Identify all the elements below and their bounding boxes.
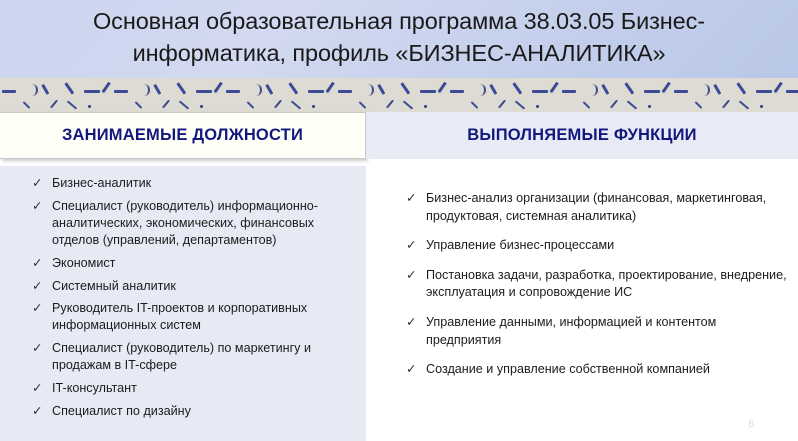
list-item: ✓Специалист (руководитель) информационно… bbox=[30, 198, 355, 250]
deco-mark bbox=[291, 100, 301, 109]
decorative-dash-band bbox=[0, 78, 798, 112]
deco-mark bbox=[498, 100, 506, 109]
deco-mark bbox=[532, 90, 548, 93]
deco-mark bbox=[28, 84, 38, 96]
deco-mark bbox=[674, 90, 688, 93]
deco-mark bbox=[700, 84, 710, 96]
deco-mark bbox=[662, 82, 671, 93]
deco-mark bbox=[252, 84, 262, 96]
deco-mark bbox=[562, 90, 576, 93]
deco-mark bbox=[23, 101, 31, 109]
deco-mark bbox=[424, 105, 427, 108]
column-header-functions: ВЫПОЛНЯЕМЫЕ ФУНКЦИИ bbox=[366, 112, 798, 159]
deco-mark bbox=[364, 84, 374, 96]
list-item: ✓Специалист (руководитель) по маркетингу… bbox=[30, 340, 355, 374]
list-item-label: Специалист (руководитель) информационно-… bbox=[52, 199, 318, 247]
check-icon: ✓ bbox=[406, 190, 416, 208]
deco-mark bbox=[756, 90, 772, 93]
deco-mark bbox=[84, 90, 100, 93]
deco-mark bbox=[102, 82, 111, 93]
check-icon: ✓ bbox=[32, 278, 42, 295]
list-item: ✓Экономист bbox=[30, 255, 355, 272]
deco-mark bbox=[266, 84, 274, 95]
list-item: ✓Управление бизнес-процессами bbox=[404, 237, 794, 255]
check-icon: ✓ bbox=[406, 267, 416, 285]
deco-mark bbox=[65, 82, 75, 94]
deco-mark bbox=[471, 101, 479, 109]
deco-mark bbox=[226, 90, 240, 93]
deco-mark bbox=[695, 101, 703, 109]
deco-mark bbox=[177, 82, 187, 94]
check-icon: ✓ bbox=[406, 314, 416, 332]
list-item-label: Системный аналитик bbox=[52, 279, 176, 293]
deco-mark bbox=[378, 84, 386, 95]
deco-mark bbox=[737, 82, 747, 94]
list-item-label: Управление данными, информацией и контен… bbox=[426, 315, 716, 347]
check-icon: ✓ bbox=[406, 237, 416, 255]
list-item: ✓IT-консультант bbox=[30, 380, 355, 397]
deco-mark bbox=[583, 101, 591, 109]
check-icon: ✓ bbox=[32, 300, 42, 317]
list-item: ✓Постановка задачи, разработка, проектир… bbox=[404, 267, 794, 302]
deco-mark bbox=[476, 84, 486, 96]
deco-mark bbox=[627, 100, 637, 109]
deco-mark bbox=[247, 101, 255, 109]
deco-tile bbox=[448, 78, 560, 112]
column-header-positions: ЗАНИМАЕМЫЕ ДОЛЖНОСТИ bbox=[0, 112, 366, 159]
deco-tile bbox=[336, 78, 448, 112]
deco-mark bbox=[312, 105, 315, 108]
deco-mark bbox=[2, 90, 16, 93]
deco-mark bbox=[786, 90, 798, 93]
deco-mark bbox=[536, 105, 539, 108]
deco-mark bbox=[438, 82, 447, 93]
deco-mark bbox=[196, 90, 212, 93]
title-band: Основная образовательная программа 38.03… bbox=[0, 0, 798, 78]
slide: Основная образовательная программа 38.03… bbox=[0, 0, 798, 441]
list-item: ✓Системный аналитик bbox=[30, 278, 355, 295]
deco-mark bbox=[289, 82, 299, 94]
deco-mark bbox=[200, 105, 203, 108]
deco-mark bbox=[610, 100, 618, 109]
deco-mark bbox=[490, 84, 498, 95]
deco-mark bbox=[515, 100, 525, 109]
deco-mark bbox=[359, 101, 367, 109]
deco-mark bbox=[602, 84, 610, 95]
deco-mark bbox=[644, 90, 660, 93]
deco-mark bbox=[760, 105, 763, 108]
deco-tile bbox=[112, 78, 224, 112]
deco-mark bbox=[135, 101, 143, 109]
check-icon: ✓ bbox=[32, 340, 42, 357]
check-icon: ✓ bbox=[32, 403, 42, 420]
list-item-label: Экономист bbox=[52, 256, 115, 270]
list-item-label: Бизнес-аналитик bbox=[52, 176, 151, 190]
deco-tile bbox=[0, 78, 112, 112]
deco-mark bbox=[114, 90, 128, 93]
list-item-label: Бизнес-анализ организации (финансовая, м… bbox=[426, 191, 766, 223]
functions-list: ✓Бизнес-анализ организации (финансовая, … bbox=[404, 190, 794, 391]
list-item: ✓Создание и управление собственной компа… bbox=[404, 361, 794, 379]
check-icon: ✓ bbox=[32, 198, 42, 215]
deco-mark bbox=[338, 90, 352, 93]
positions-list: ✓Бизнес-аналитик✓Специалист (руководител… bbox=[30, 175, 355, 425]
column-header-functions-label: ВЫПОЛНЯЕМЫЕ ФУНКЦИИ bbox=[467, 126, 696, 145]
deco-mark bbox=[154, 84, 162, 95]
deco-tile bbox=[672, 78, 784, 112]
deco-mark bbox=[386, 100, 394, 109]
deco-mark bbox=[714, 84, 722, 95]
deco-mark bbox=[42, 84, 50, 95]
list-item-label: Создание и управление собственной компан… bbox=[426, 362, 710, 376]
check-icon: ✓ bbox=[32, 175, 42, 192]
deco-tile bbox=[224, 78, 336, 112]
deco-mark bbox=[67, 100, 77, 109]
check-icon: ✓ bbox=[32, 255, 42, 272]
deco-mark bbox=[140, 84, 150, 96]
page-number: 6 bbox=[748, 419, 754, 430]
list-item-label: IT-консультант bbox=[52, 381, 137, 395]
list-item-label: Руководитель IT-проектов и корпоративных… bbox=[52, 301, 307, 332]
deco-mark bbox=[648, 105, 651, 108]
deco-mark bbox=[550, 82, 559, 93]
deco-mark bbox=[274, 100, 282, 109]
deco-tile bbox=[560, 78, 672, 112]
deco-tile bbox=[784, 78, 798, 112]
deco-mark bbox=[50, 100, 58, 109]
deco-mark bbox=[739, 100, 749, 109]
deco-mark bbox=[588, 84, 598, 96]
list-item-label: Специалист (руководитель) по маркетингу … bbox=[52, 341, 311, 372]
list-item-label: Постановка задачи, разработка, проектиро… bbox=[426, 268, 787, 300]
list-item-label: Управление бизнес-процессами bbox=[426, 238, 614, 252]
deco-mark bbox=[401, 82, 411, 94]
deco-mark bbox=[162, 100, 170, 109]
page-title: Основная образовательная программа 38.03… bbox=[0, 5, 798, 69]
list-item: ✓Бизнес-анализ организации (финансовая, … bbox=[404, 190, 794, 225]
deco-mark bbox=[420, 90, 436, 93]
list-item: ✓Бизнес-аналитик bbox=[30, 175, 355, 192]
deco-mark bbox=[214, 82, 223, 93]
deco-mark bbox=[88, 105, 91, 108]
deco-mark bbox=[308, 90, 324, 93]
column-header-positions-label: ЗАНИМАЕМЫЕ ДОЛЖНОСТИ bbox=[62, 126, 303, 145]
list-item-label: Специалист по дизайну bbox=[52, 404, 191, 418]
deco-mark bbox=[513, 82, 523, 94]
list-item: ✓Руководитель IT-проектов и корпоративны… bbox=[30, 300, 355, 334]
deco-mark bbox=[403, 100, 413, 109]
deco-mark bbox=[722, 100, 730, 109]
deco-mark bbox=[326, 82, 335, 93]
check-icon: ✓ bbox=[406, 361, 416, 379]
check-icon: ✓ bbox=[32, 380, 42, 397]
deco-mark bbox=[179, 100, 189, 109]
list-item: ✓Управление данными, информацией и конте… bbox=[404, 314, 794, 349]
deco-mark bbox=[450, 90, 464, 93]
list-item: ✓Специалист по дизайну bbox=[30, 403, 355, 420]
deco-mark bbox=[774, 82, 783, 93]
deco-mark bbox=[625, 82, 635, 94]
